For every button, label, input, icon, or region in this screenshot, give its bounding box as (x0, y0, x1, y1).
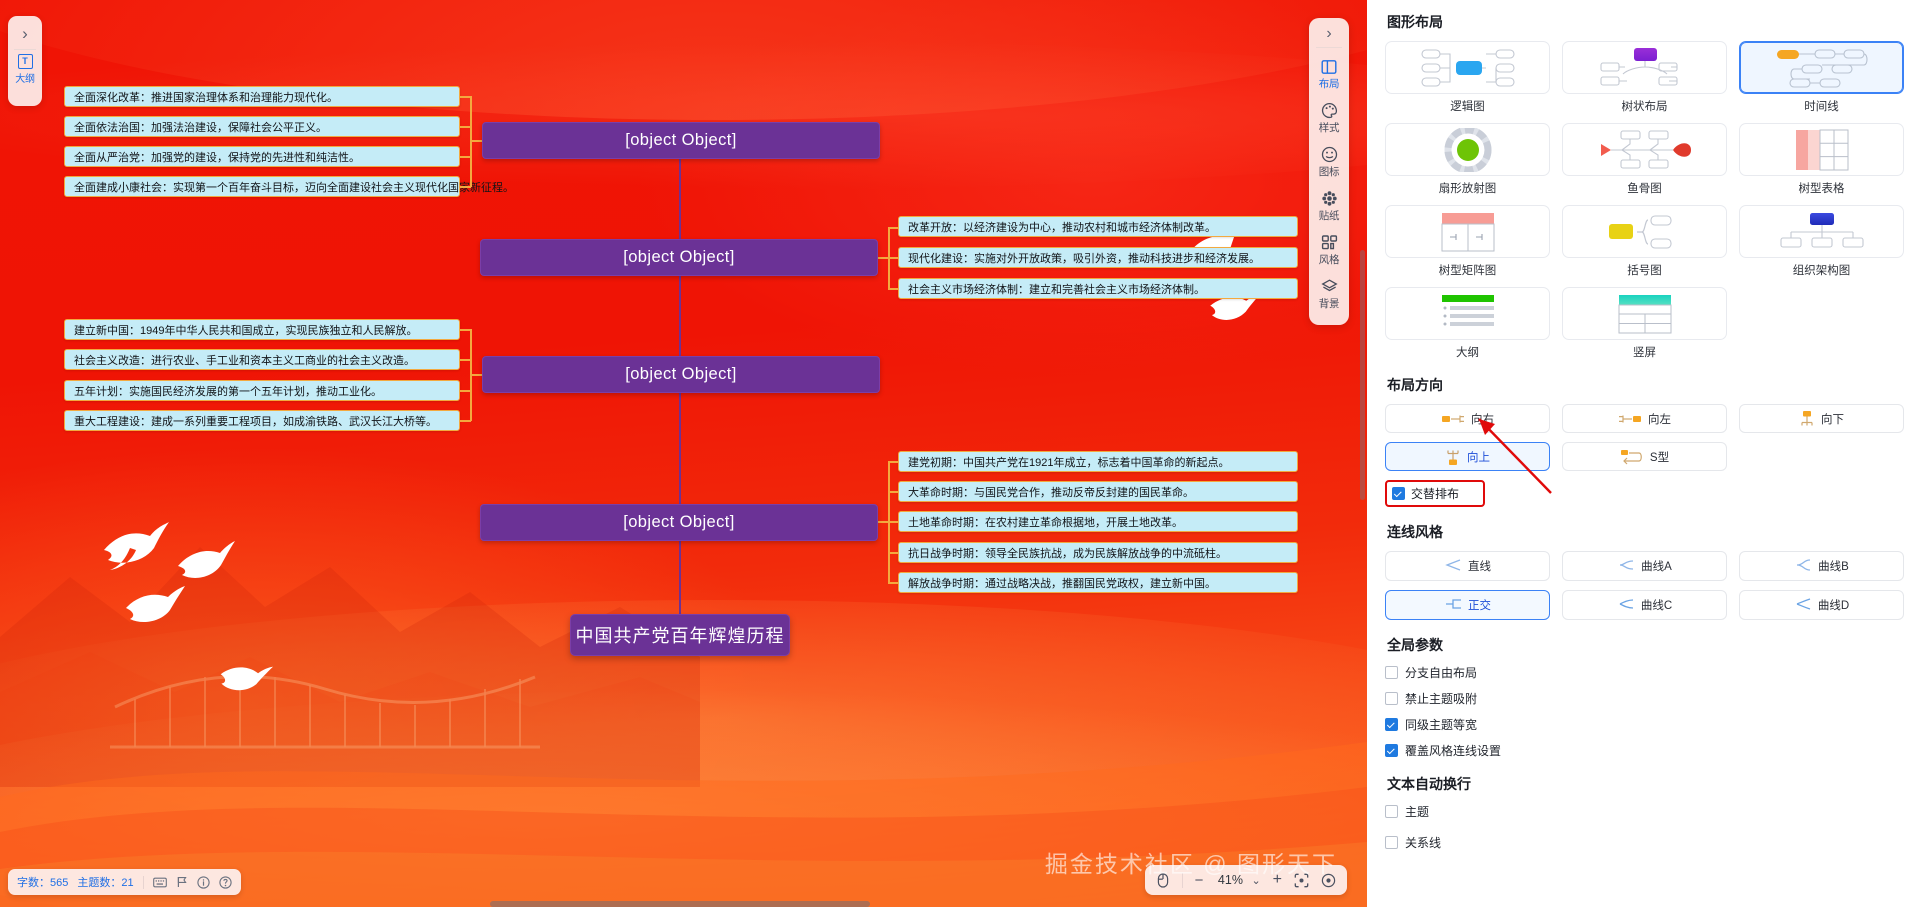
layout-option-label: 树型表格 (1739, 180, 1904, 196)
layout-option-label: 大纲 (1385, 344, 1550, 360)
text-wrap-label: 关系线 (1405, 834, 1441, 851)
vertical-screen-thumb (1562, 287, 1727, 340)
connector (888, 582, 899, 584)
connector (888, 461, 899, 463)
connector (888, 227, 899, 229)
fit-screen-icon[interactable] (1294, 873, 1309, 888)
fan-radial-thumb (1385, 123, 1550, 176)
leaf-node[interactable]: 全面从严治党：加强党的建设，保持党的先进性和纯洁性。 (64, 146, 460, 167)
expand-chevron-icon[interactable]: › (22, 21, 28, 45)
divider (14, 49, 36, 50)
connector (888, 491, 899, 493)
leaf-node[interactable]: 社会主义改造：进行农业、手工业和资本主义工商业的社会主义改造。 (64, 349, 460, 370)
direction-option-up[interactable]: 向上 (1385, 442, 1550, 471)
direction-option-label: 向上 (1467, 449, 1490, 465)
direction-option-down[interactable]: 向下 (1739, 404, 1904, 433)
layout-option-label: 组织架构图 (1739, 262, 1904, 278)
curve-b-icon (1794, 559, 1812, 574)
line-style-option-orthogonal[interactable]: 正交 (1385, 590, 1550, 620)
direction-option-right[interactable]: 向右 (1385, 404, 1550, 433)
rail-item-label: 风格 (1319, 252, 1340, 267)
alternate-layout-highlight: 交替排布 (1385, 480, 1485, 507)
logic-diagram-thumb (1385, 41, 1550, 94)
keyboard-icon[interactable] (153, 877, 167, 888)
direction-option-label: 向右 (1471, 411, 1494, 427)
mouse-pointer-icon[interactable] (1156, 873, 1170, 888)
connector (460, 390, 471, 392)
canvas-horizontal-scrollbar[interactable] (490, 901, 870, 907)
layout-option-label: 逻辑图 (1385, 98, 1550, 114)
rail-item-label: 图标 (1319, 164, 1340, 179)
stage-node[interactable]: [object Object] (482, 122, 880, 159)
rail-item-style-preset[interactable]: 风格 (1309, 229, 1349, 273)
direction-grid: 向右 向左 向下 向上 S型 (1385, 404, 1904, 471)
rail-item-sticker[interactable]: 贴纸 (1309, 185, 1349, 229)
connector (888, 521, 899, 523)
layout-option-tree-matrix[interactable]: 树型矩阵图 (1385, 205, 1550, 278)
fishbone-thumb (1562, 123, 1727, 176)
style-grid-icon (1321, 234, 1338, 251)
straight-line-icon (1444, 559, 1462, 574)
outline-thumb (1385, 287, 1550, 340)
alternate-layout-label: 交替排布 (1411, 485, 1459, 502)
layout-option-bracket[interactable]: 括号图 (1562, 205, 1727, 278)
chevron-down-icon[interactable]: ⌄ (1251, 874, 1260, 887)
layout-settings-panel: 图形布局 逻辑图 (1367, 0, 1920, 907)
direction-option-label: 向下 (1821, 411, 1844, 427)
text-wrap-topic[interactable]: 主题 (1385, 803, 1904, 820)
outline-toolbar: › T 大纲 (8, 16, 42, 106)
equal-width-siblings-checkbox[interactable] (1385, 718, 1398, 731)
topic-count-label: 主题数：21 (77, 874, 133, 890)
line-style-label: 直线 (1468, 558, 1491, 574)
mindmap-diagram: 全面深化改革：推进国家治理体系和治理能力现代化。 全面依法治国：加强法治建设，保… (0, 0, 1367, 907)
layout-option-fan-radial[interactable]: 扇形放射图 (1385, 123, 1550, 196)
leaf-node[interactable]: 建党初期：中国共产党在1921年成立，标志着中国革命的新起点。 (898, 451, 1298, 472)
connector (878, 257, 889, 259)
outline-icon: T (18, 54, 33, 69)
connector (460, 186, 471, 188)
line-style-label: 曲线B (1818, 558, 1849, 574)
curve-d-icon (1794, 598, 1812, 613)
line-style-option-curve-b[interactable]: 曲线B (1739, 551, 1904, 581)
layout-option-tree[interactable]: 树状布局 (1562, 41, 1727, 114)
connector (888, 257, 899, 259)
zoom-level-value[interactable]: 41% (1215, 873, 1245, 887)
help-icon[interactable] (219, 876, 232, 889)
connector (460, 329, 471, 331)
layout-option-label: 竖屏 (1562, 344, 1727, 360)
leaf-node[interactable]: 抗日战争时期：领导全民族抗战，成为民族解放战争的中流砥柱。 (898, 542, 1298, 563)
zoom-in-button[interactable]: + (1273, 871, 1282, 889)
connector (470, 96, 472, 187)
layout-option-org-chart[interactable]: 组织架构图 (1739, 205, 1904, 278)
timeline-layout-thumb (1739, 41, 1904, 94)
disable-topic-snap-checkbox[interactable] (1385, 692, 1398, 705)
text-wrap-group: 主题 关系线 (1385, 803, 1904, 851)
rail-item-icons[interactable]: 图标 (1309, 141, 1349, 185)
zoom-toolbar: − 41% ⌄ + (1145, 865, 1347, 895)
arrow-down-icon (1799, 410, 1815, 428)
global-param-equal-width-siblings[interactable]: 同级主题等宽 (1385, 716, 1904, 733)
stage-node[interactable]: [object Object] (482, 356, 880, 393)
line-style-option-straight[interactable]: 直线 (1385, 551, 1550, 581)
layout-type-grid: 逻辑图 树状布局 (1385, 41, 1904, 360)
line-style-grid: 直线 曲线A 曲线B 正交 曲线C 曲线D (1385, 551, 1904, 620)
global-param-label: 分支自由布局 (1405, 664, 1477, 681)
text-wrap-relation-line[interactable]: 关系线 (1385, 834, 1904, 851)
leaf-node[interactable]: 现代化建设：实施对外开放政策，吸引外资，推动科技进步和经济发展。 (898, 247, 1298, 268)
rail-item-label: 贴纸 (1319, 208, 1340, 223)
connector (460, 359, 471, 361)
divider (1316, 47, 1342, 48)
stage-node[interactable]: [object Object] (480, 239, 878, 276)
alternate-layout-checkbox[interactable] (1392, 487, 1405, 500)
s-shape-icon (1620, 449, 1644, 465)
line-style-option-curve-d[interactable]: 曲线D (1739, 590, 1904, 620)
global-param-disable-topic-snap[interactable]: 禁止主题吸附 (1385, 690, 1904, 707)
section-title-global-params: 全局参数 (1387, 635, 1904, 655)
sticker-icon (1321, 190, 1338, 207)
info-icon[interactable] (197, 876, 210, 889)
tree-matrix-thumb (1385, 205, 1550, 258)
tool-rail: › 布局 样式 图标 (1309, 18, 1349, 325)
word-count-label: 字数：565 (17, 874, 68, 890)
tree-layout-thumb (1562, 41, 1727, 94)
curve-a-icon (1617, 559, 1635, 574)
direction-option-s-shape[interactable]: S型 (1562, 442, 1727, 471)
connector (460, 420, 471, 422)
mindmap-canvas[interactable]: 全面深化改革：推进国家治理体系和治理能力现代化。 全面依法治国：加强法治建设，保… (0, 0, 1367, 907)
line-style-label: 正交 (1468, 597, 1491, 613)
arrow-left-icon (1618, 412, 1642, 425)
leaf-node[interactable]: 大革命时期：与国民党合作，推动反帝反封建的国民革命。 (898, 481, 1298, 502)
rail-item-layout[interactable]: 布局 (1309, 53, 1349, 97)
layout-option-label: 树型矩阵图 (1385, 262, 1550, 278)
layout-option-timeline[interactable]: 时间线 (1739, 41, 1904, 114)
rail-item-label: 样式 (1319, 120, 1340, 135)
tree-table-thumb (1739, 123, 1904, 176)
text-wrap-relation-checkbox[interactable] (1385, 836, 1398, 849)
text-wrap-topic-checkbox[interactable] (1385, 805, 1398, 818)
section-title-line-style: 连线风格 (1387, 522, 1904, 542)
sidebar-item-label: 大纲 (15, 70, 34, 85)
rail-item-background[interactable]: 背景 (1309, 273, 1349, 317)
status-bar: 字数：565 主题数：21 (8, 869, 241, 895)
override-style-lines-checkbox[interactable] (1385, 744, 1398, 757)
section-title-layout-direction: 布局方向 (1387, 375, 1904, 395)
direction-option-left[interactable]: 向左 (1562, 404, 1727, 433)
line-style-label: 曲线A (1641, 558, 1672, 574)
branch-free-layout-checkbox[interactable] (1385, 666, 1398, 679)
leaf-node[interactable]: 五年计划：实施国民经济发展的第一个五年计划，推动工业化。 (64, 380, 460, 401)
layout-option-fishbone[interactable]: 鱼骨图 (1562, 123, 1727, 196)
smiley-icon (1321, 146, 1338, 163)
line-style-option-curve-a[interactable]: 曲线A (1562, 551, 1727, 581)
flag-icon[interactable] (176, 876, 188, 888)
layout-option-logic[interactable]: 逻辑图 (1385, 41, 1550, 114)
orthogonal-line-icon (1444, 598, 1462, 613)
leaf-node[interactable]: 社会主义市场经济体制：建立和完善社会主义市场经济体制。 (898, 278, 1298, 299)
collapse-chevron-icon[interactable]: › (1326, 22, 1331, 47)
arrow-up-icon (1445, 448, 1461, 466)
line-style-label: 曲线C (1641, 597, 1672, 613)
line-style-option-curve-c[interactable]: 曲线C (1562, 590, 1727, 620)
stage-node[interactable]: [object Object] (480, 504, 878, 541)
center-target-icon[interactable] (1321, 873, 1336, 888)
layout-option-label: 树状布局 (1562, 98, 1727, 114)
connector (878, 521, 889, 523)
connector-spine (679, 158, 681, 636)
connector (888, 288, 899, 290)
global-param-branch-free-layout[interactable]: 分支自由布局 (1385, 664, 1904, 681)
leaf-node[interactable]: 建立新中国：1949年中华人民共和国成立，实现民族独立和人民解放。 (64, 319, 460, 340)
layout-option-label: 扇形放射图 (1385, 180, 1550, 196)
layout-option-label: 时间线 (1739, 98, 1904, 114)
curve-c-icon (1617, 598, 1635, 613)
layout-icon (1321, 58, 1337, 75)
line-style-label: 曲线D (1818, 597, 1849, 613)
global-param-label: 覆盖风格连线设置 (1405, 742, 1501, 759)
root-node[interactable]: 中国共产党百年辉煌历程 (570, 614, 790, 656)
connector (460, 126, 471, 128)
divider (1182, 873, 1183, 888)
connector (888, 552, 899, 554)
section-title-text-wrap: 文本自动换行 (1387, 774, 1904, 794)
org-chart-thumb (1739, 205, 1904, 258)
global-param-label: 同级主题等宽 (1405, 716, 1477, 733)
sidebar-item-outline[interactable]: T 大纲 (15, 54, 34, 85)
canvas-vertical-scrollbar[interactable] (1360, 250, 1365, 500)
bracket-thumb (1562, 205, 1727, 258)
layout-option-vertical-screen[interactable]: 竖屏 (1562, 287, 1727, 360)
leaf-node[interactable]: 全面依法治国：加强法治建设，保障社会公平正义。 (64, 116, 460, 137)
layout-option-outline[interactable]: 大纲 (1385, 287, 1550, 360)
direction-option-label: S型 (1650, 449, 1669, 465)
direction-option-label: 向左 (1648, 411, 1671, 427)
leaf-node[interactable]: 重大工程建设：建成一系列重要工程项目，如成渝铁路、武汉长江大桥等。 (64, 410, 460, 431)
palette-icon (1321, 102, 1338, 119)
rail-item-style[interactable]: 样式 (1309, 97, 1349, 141)
layers-icon (1321, 278, 1338, 295)
arrow-right-icon (1441, 412, 1465, 425)
app-window: 全面深化改革：推进国家治理体系和治理能力现代化。 全面依法治国：加强法治建设，保… (0, 0, 1920, 907)
leaf-node[interactable]: 改革开放：以经济建设为中心，推动农村和城市经济体制改革。 (898, 216, 1298, 237)
rail-item-label: 布局 (1319, 76, 1340, 91)
text-wrap-label: 主题 (1405, 803, 1429, 820)
leaf-node[interactable]: 全面深化改革：推进国家治理体系和治理能力现代化。 (64, 86, 460, 107)
leaf-node[interactable]: 解放战争时期：通过战略决战，推翻国民党政权，建立新中国。 (898, 572, 1298, 593)
global-param-label: 禁止主题吸附 (1405, 690, 1477, 707)
section-title-graph-layout: 图形布局 (1387, 12, 1904, 32)
layout-option-label: 括号图 (1562, 262, 1727, 278)
layout-option-tree-table[interactable]: 树型表格 (1739, 123, 1904, 196)
leaf-node[interactable]: 全面建成小康社会：实现第一个百年奋斗目标，迈向全面建设社会主义现代化国家新征程。 (64, 176, 460, 197)
layout-option-label: 鱼骨图 (1562, 180, 1727, 196)
connector (460, 96, 471, 98)
global-param-override-style-lines[interactable]: 覆盖风格连线设置 (1385, 742, 1904, 759)
rail-item-label: 背景 (1319, 296, 1340, 311)
zoom-out-button[interactable]: − (1195, 872, 1204, 889)
divider (143, 876, 144, 889)
connector (460, 156, 471, 158)
leaf-node[interactable]: 土地革命时期：在农村建立革命根据地，开展土地改革。 (898, 511, 1298, 532)
